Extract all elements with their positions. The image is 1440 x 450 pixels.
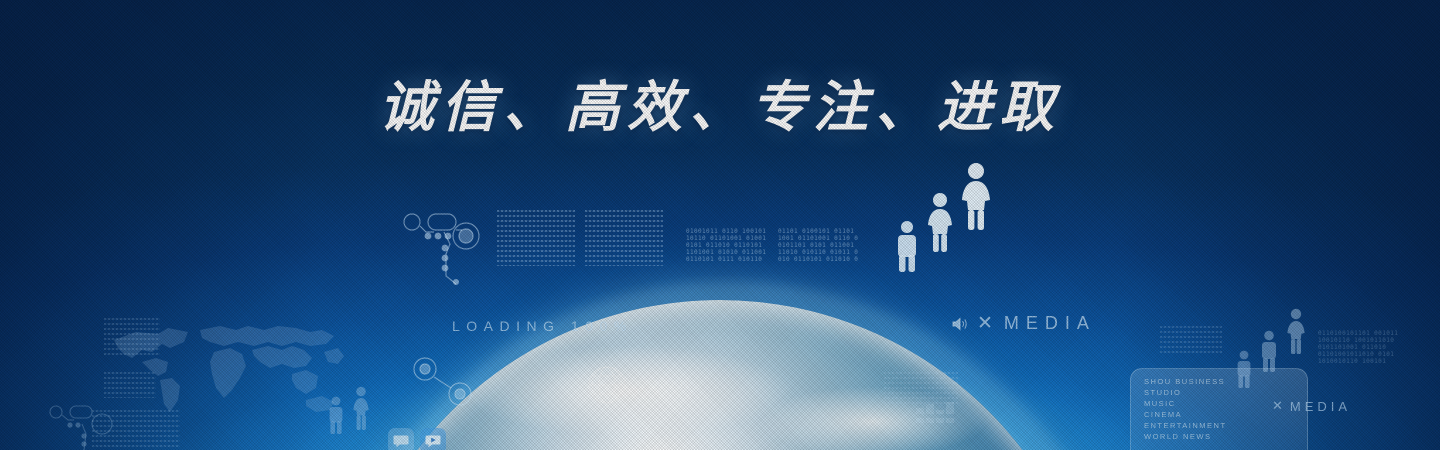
panel-line: ENTERTAINMENT bbox=[1144, 420, 1307, 431]
data-text-block-left-top bbox=[104, 318, 160, 356]
media-logo: ✕ MEDIA bbox=[952, 312, 1096, 335]
chat-bubble-icon[interactable] bbox=[388, 428, 414, 450]
pixel-bars-cluster bbox=[916, 398, 964, 433]
person-male-icon bbox=[1234, 350, 1254, 388]
loading-label: LOADING 100% bbox=[452, 318, 633, 334]
data-text-block-b bbox=[585, 210, 663, 266]
data-text-block-a bbox=[497, 210, 575, 266]
person-female-icon bbox=[924, 192, 956, 252]
node-graph-icon-small bbox=[44, 398, 124, 450]
media-x-mark: ✕ bbox=[1272, 398, 1285, 414]
binary-text: 01101 0100101 01101 0101 1001 01101001 0… bbox=[778, 228, 858, 263]
person-male-icon bbox=[1258, 330, 1280, 372]
world-badge-sublines: NEWS LIVE FEED bbox=[638, 382, 660, 406]
binary-block-c: 0110100101101 001011 10010110 1001011010… bbox=[1318, 330, 1414, 390]
node-link-icon bbox=[408, 352, 478, 417]
media-x-mark: ✕ bbox=[977, 312, 995, 335]
hero-banner: 01001011 0110 1001010 011 10110 01101001… bbox=[0, 0, 1440, 450]
wireframe-globe-icon bbox=[586, 364, 628, 406]
play-bubble-icon[interactable] bbox=[420, 428, 446, 450]
binary-block-a: 01001011 0110 1001010 011 10110 01101001… bbox=[686, 228, 766, 270]
page-title: 诚信、高效、专注、进取 bbox=[0, 62, 1440, 142]
person-female-icon bbox=[350, 386, 372, 430]
panel-line: WORLD NEWS bbox=[1144, 431, 1307, 442]
panel-line: STUDIO bbox=[1144, 387, 1307, 398]
sound-icon bbox=[952, 317, 968, 331]
panel-line: SHOU BUSINESS bbox=[1144, 376, 1307, 387]
headline-text: 诚信、高效、专注、进取 bbox=[379, 62, 1061, 142]
person-female-icon bbox=[958, 162, 994, 230]
media-wordmark: MEDIA bbox=[1290, 399, 1351, 414]
binary-text: 01001011 0110 1001010 011 10110 01101001… bbox=[686, 228, 766, 263]
media-wordmark: MEDIA bbox=[1004, 313, 1096, 334]
person-male-icon bbox=[893, 220, 921, 272]
person-male-icon bbox=[326, 396, 346, 434]
media-logo-bottom: ✕ MEDIA bbox=[1272, 398, 1351, 414]
data-text-block-right-top bbox=[1160, 326, 1222, 356]
person-female-icon bbox=[1284, 308, 1308, 354]
node-graph-icon bbox=[398, 200, 488, 295]
binary-text: 0110100101101 001011 10010110 1001011010… bbox=[1318, 330, 1414, 365]
binary-block-b: 01101 0100101 01101 0101 1001 01101001 0… bbox=[778, 228, 858, 270]
data-text-block-left-mid bbox=[104, 372, 156, 398]
